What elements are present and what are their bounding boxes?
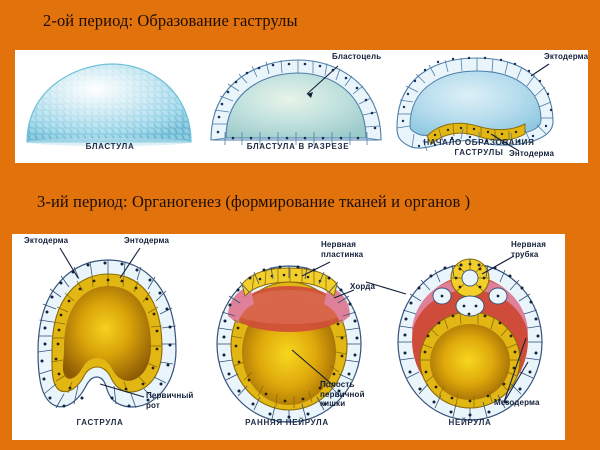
label-archenteron: Полость первичной кишки (320, 380, 365, 409)
figure-blastula-section: Бластоцель БЛАСТУЛА В РАЗРЕЗЕ (203, 50, 393, 163)
figure-early-neurula: Нервная пластинка Хорда Полость первично… (194, 234, 384, 440)
figure-blastula: БЛАСТУЛА (15, 50, 205, 163)
figure-caption-blastula: БЛАСТУЛА (15, 142, 205, 152)
early-neurula-drawing (194, 234, 384, 440)
label-neural-tube: Нервная трубка (511, 240, 546, 259)
figure-neurula: Нервная трубка Мезодерма НЕЙРУЛА (384, 234, 565, 440)
label-ectoderm-gastrula-start: Эктодерма (544, 52, 588, 62)
section-title-gastrulation: 2-ой период: Образование гаструлы (43, 11, 298, 31)
label-ectoderm-gastrula: Эктодерма (24, 236, 68, 246)
figure-panel-organogenesis: Эктодерма Энтодерма Первичный рот ГАСТРУ… (12, 234, 565, 440)
label-endoderm-gastrula: Энтодерма (124, 236, 169, 246)
figure-gastrula: Эктодерма Энтодерма Первичный рот ГАСТРУ… (12, 234, 200, 440)
label-neural-plate: Нервная пластинка (321, 240, 363, 259)
figure-caption-blastula-section: БЛАСТУЛА В РАЗРЕЗЕ (203, 142, 393, 152)
figure-caption-gastrula: ГАСТРУЛА (12, 418, 188, 428)
figure-caption-gastrula-start: НАЧАЛО ОБРАЗОВАНИЯ ГАСТРУЛЫ (391, 138, 567, 157)
section-title-organogenesis: 3-ий период: Органогенез (формирование т… (37, 192, 470, 212)
figure-gastrula-start: Эктодерма Энтодерма НАЧАЛО ОБРАЗОВАНИЯ Г… (391, 50, 588, 163)
label-mesoderm: Мезодерма (494, 398, 540, 408)
figure-caption-early-neurula: РАННЯЯ НЕЙРУЛА (194, 418, 380, 428)
figure-panel-gastrulation: БЛАСТУЛА (15, 50, 588, 163)
slide-root: 2-ой период: Образование гаструлы (0, 0, 600, 450)
figure-caption-neurula: НЕЙРУЛА (384, 418, 556, 428)
label-blastopore: Первичный рот (146, 391, 194, 410)
neurula-drawing (384, 234, 565, 440)
label-blastocoel: Бластоцель (332, 52, 381, 62)
